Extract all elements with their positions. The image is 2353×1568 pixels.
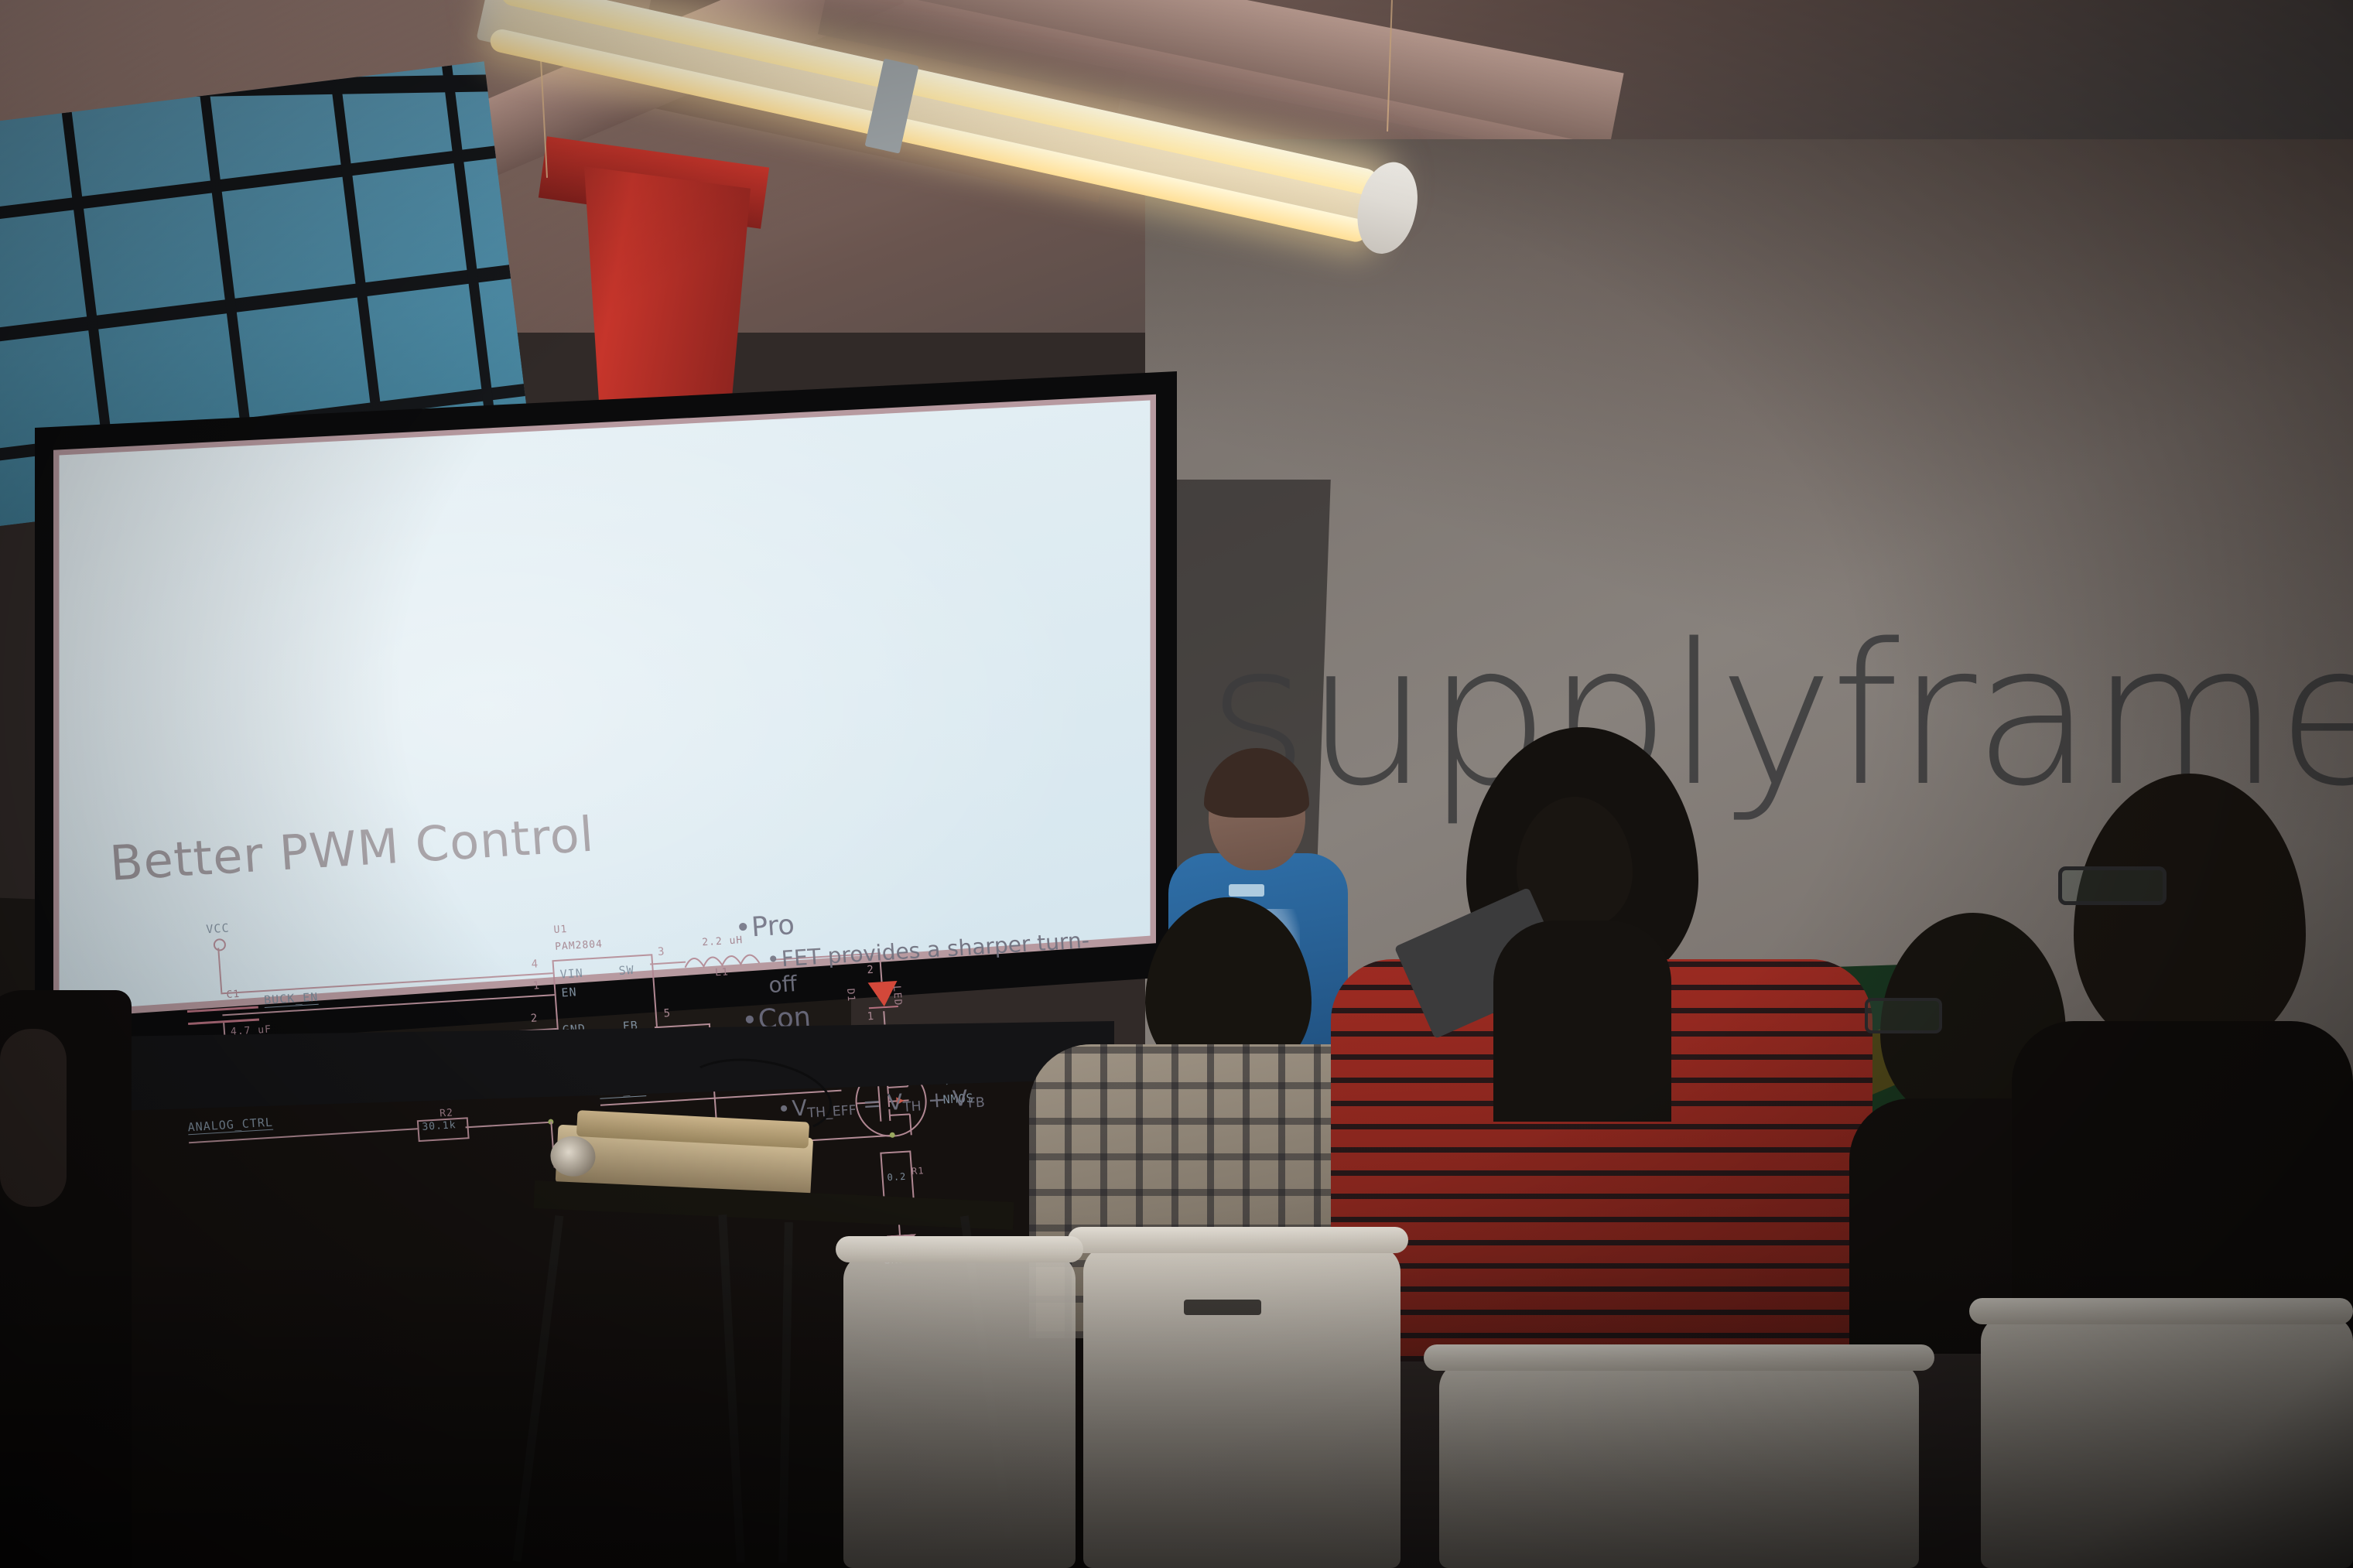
- audience-member-tablet-user: [1493, 797, 1671, 1122]
- chair-1-slot: [1184, 1300, 1261, 1315]
- pin-number-5: 5: [663, 1007, 671, 1020]
- presenter-badge: [1229, 884, 1264, 897]
- net-label-analog-ctrl: ANALOG_CTRL: [187, 1115, 274, 1136]
- net-label-buck-en: BUCK_EN: [264, 990, 319, 1008]
- eyeglasses-icon-2: [2058, 866, 2167, 905]
- pin-number-2: 2: [530, 1013, 538, 1025]
- formula-t1-base: V: [887, 1089, 903, 1115]
- glasses2-head: [2074, 774, 2306, 1052]
- slide-title: Better PWM Control: [108, 806, 596, 892]
- pin-number-4: 4: [531, 958, 539, 970]
- ic-pin-vin: VIN: [559, 966, 583, 982]
- audience-member-glasses-2: [2012, 774, 2353, 1361]
- net-label-vcc: VCC: [206, 921, 230, 937]
- formula-t2-sub: FB: [967, 1095, 985, 1112]
- chair-4-top-rail: [836, 1236, 1083, 1262]
- pin-number-1: 1: [532, 979, 540, 992]
- wire-r2-node: [466, 1122, 551, 1129]
- standing-person-left-arm: [0, 1029, 67, 1207]
- component-value-r2: 30.1k: [422, 1119, 457, 1133]
- bullet-pro-label: Pro: [751, 910, 795, 943]
- component-ref-c1: C1: [226, 989, 241, 1001]
- chair-4: [843, 1253, 1076, 1568]
- chair-2: [1439, 1361, 1919, 1568]
- bullet-dot-icon: •: [734, 913, 744, 945]
- wire-vcc-down: [217, 948, 222, 992]
- chair-2-top-rail: [1424, 1344, 1934, 1371]
- cap-plate-top: [187, 1006, 258, 1013]
- chair-3-top-rail: [1969, 1298, 2353, 1324]
- pin-number-3: 3: [657, 945, 665, 958]
- chair-1-top-rail: [1068, 1227, 1408, 1253]
- component-value-u1: PAM2804: [555, 938, 604, 953]
- chair-1: [1083, 1245, 1401, 1568]
- vcc-terminal: [213, 938, 226, 951]
- ic-pin-en: EN: [561, 985, 577, 999]
- formula-plus: +: [927, 1087, 947, 1113]
- presentation-room-photo: supplyframe Better PWM Co: [0, 0, 2353, 1568]
- component-ref-l1: L1: [715, 966, 730, 979]
- presenter-hair: [1204, 748, 1309, 818]
- wire-sw-out: [650, 962, 686, 965]
- wire-node-r3: [550, 1122, 553, 1148]
- chair-3: [1981, 1315, 2353, 1568]
- tablet-user-torso: [1493, 921, 1671, 1122]
- bullet-dot-icon: •: [766, 947, 775, 973]
- eyeglasses-icon-1: [1865, 998, 1942, 1033]
- ic-pin-sw: SW: [618, 963, 634, 978]
- wire-vin: [221, 972, 552, 994]
- formula-t1-sub: TH: [902, 1099, 922, 1115]
- component-ref-u1: U1: [553, 924, 568, 936]
- formula-t2-base: V: [952, 1085, 968, 1112]
